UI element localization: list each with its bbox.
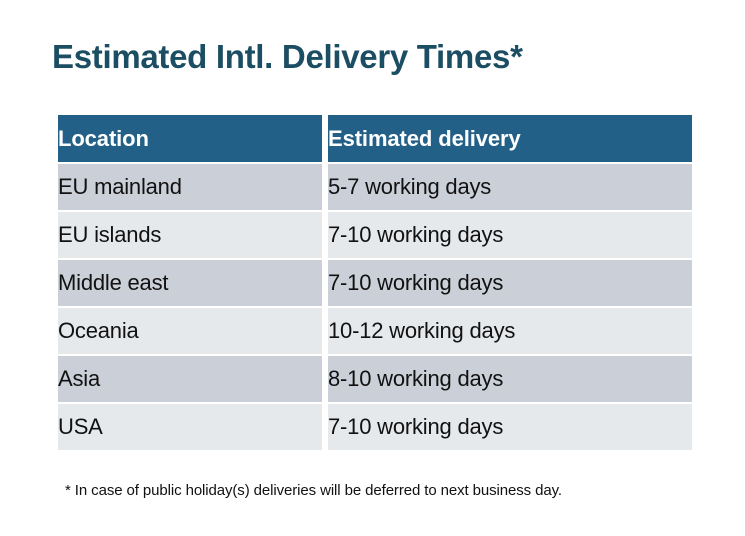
cell-location: Asia: [58, 356, 322, 402]
footnote: * In case of public holiday(s) deliverie…: [65, 481, 562, 501]
table-row: EU mainland 5-7 working days: [58, 164, 692, 210]
table-row: Middle east 7-10 working days: [58, 260, 692, 306]
cell-location: Oceania: [58, 308, 322, 354]
delivery-times-table: Location Estimated delivery EU mainland …: [52, 113, 698, 452]
cell-delivery: 8-10 working days: [328, 356, 692, 402]
delivery-times-page: Estimated Intl. Delivery Times* Location…: [0, 0, 745, 536]
cell-delivery: 7-10 working days: [328, 260, 692, 306]
page-title: Estimated Intl. Delivery Times*: [52, 36, 523, 78]
table-header-row: Location Estimated delivery: [58, 115, 692, 162]
table-row: EU islands 7-10 working days: [58, 212, 692, 258]
table-row: Asia 8-10 working days: [58, 356, 692, 402]
cell-delivery: 7-10 working days: [328, 212, 692, 258]
table-body: EU mainland 5-7 working days EU islands …: [58, 164, 692, 450]
cell-delivery: 10-12 working days: [328, 308, 692, 354]
column-header-location[interactable]: Location: [58, 115, 322, 162]
table-row: Oceania 10-12 working days: [58, 308, 692, 354]
cell-location: Middle east: [58, 260, 322, 306]
table-row: USA 7-10 working days: [58, 404, 692, 450]
cell-location: USA: [58, 404, 322, 450]
cell-location: EU mainland: [58, 164, 322, 210]
cell-delivery: 5-7 working days: [328, 164, 692, 210]
cell-location: EU islands: [58, 212, 322, 258]
column-header-estimated-delivery[interactable]: Estimated delivery: [328, 115, 692, 162]
table-head: Location Estimated delivery: [58, 115, 692, 162]
cell-delivery: 7-10 working days: [328, 404, 692, 450]
